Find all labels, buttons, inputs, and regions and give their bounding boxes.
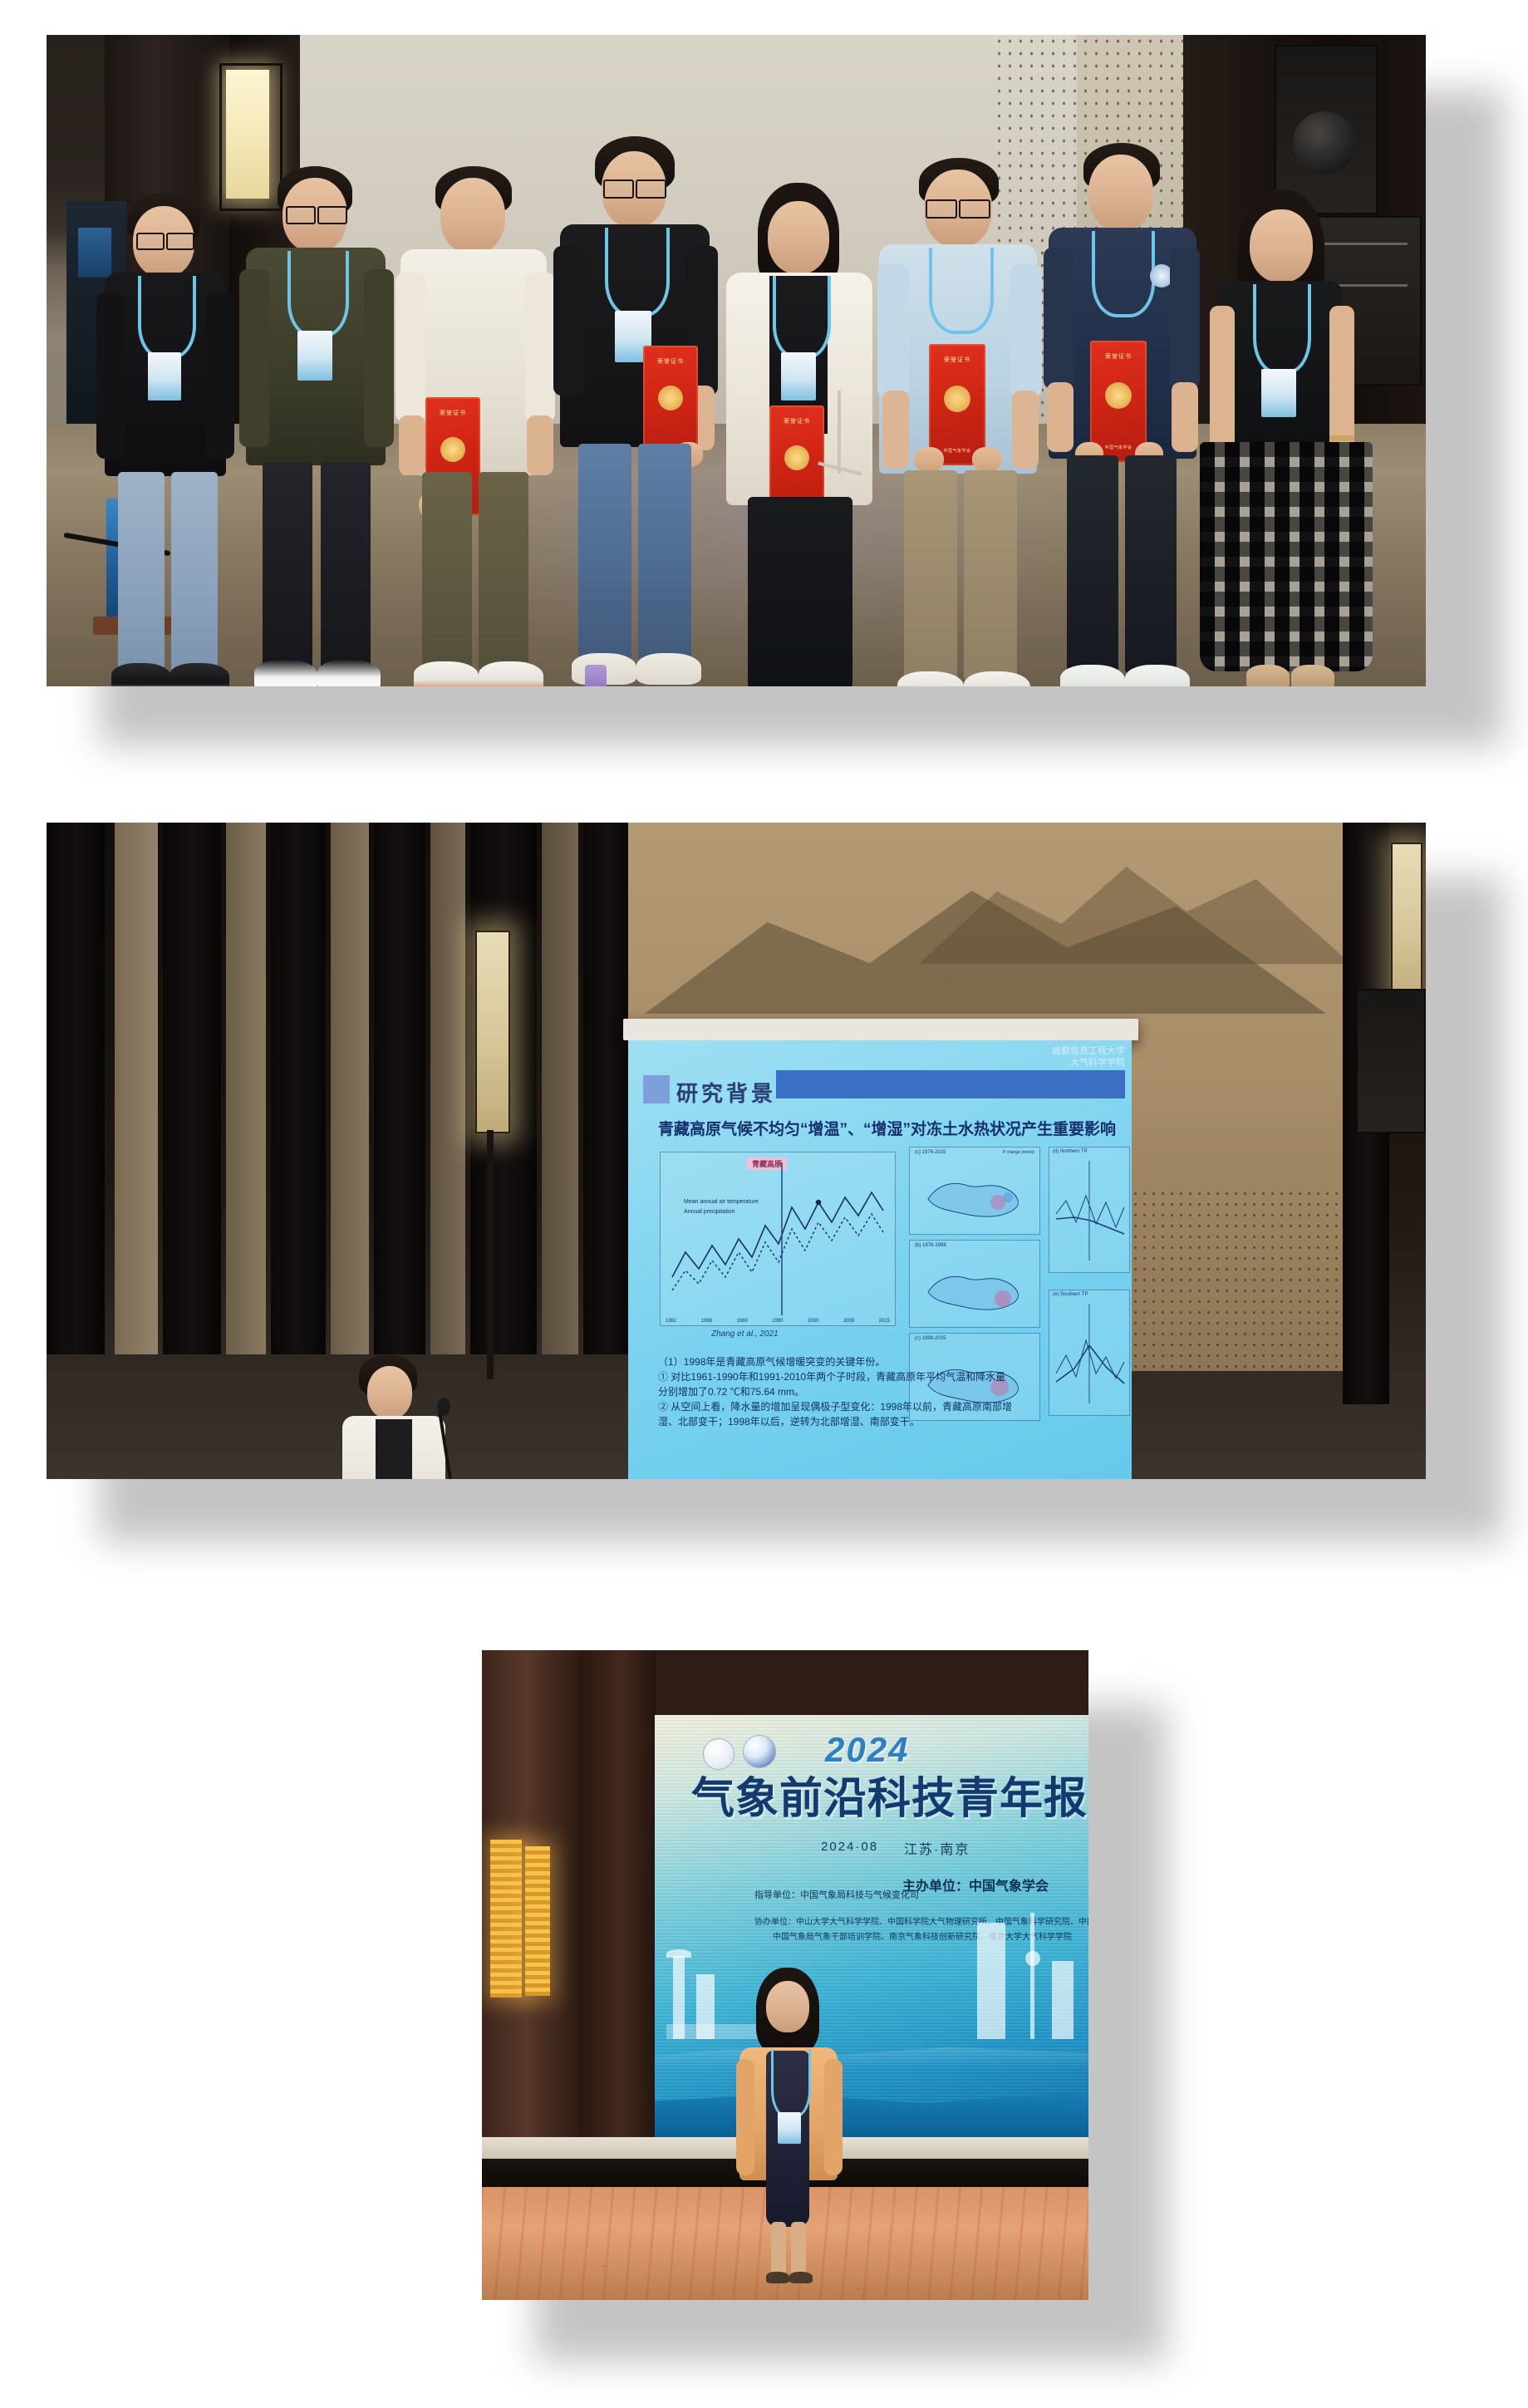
tp-outline-svg: [910, 1241, 1039, 1327]
presenter-leg-left: [771, 2222, 786, 2277]
person-3: 荣誉证书 中国气象学会: [396, 166, 562, 686]
person-5: 荣誉证书 中国气象学会: [721, 183, 887, 686]
person-6-glasses: [926, 199, 957, 219]
person-6-arm-left: [877, 264, 909, 397]
wall-slat: [226, 823, 266, 1354]
person-1-badge: [148, 352, 181, 401]
presenter-arm-right: [824, 2059, 843, 2175]
slide-header-bar: [776, 1070, 1125, 1098]
xtick: 1961: [666, 1319, 676, 1324]
dark-wall-column: [580, 1650, 656, 2149]
person-1: [96, 193, 246, 686]
slide-right-panel-e: (e) Southern TP: [1049, 1290, 1130, 1416]
person-6-glasses-right: [959, 199, 990, 219]
person-6-leg-left: [904, 470, 957, 680]
amber-wall-lamp-2: [525, 1846, 550, 1996]
slide-section-marker: [643, 1075, 670, 1103]
banner-title: 气象前沿科技青年报告汇: [691, 1763, 1088, 1826]
person-7-shoe-right: [1125, 665, 1190, 686]
presenter-inner: [376, 1419, 412, 1479]
right-panel-curve-d: [1049, 1147, 1129, 1272]
skyline-pagoda-roof: [666, 1949, 691, 1958]
xtick: 1980: [737, 1319, 748, 1324]
person-3-leg-right: [479, 472, 528, 670]
person-1-leg-right: [171, 472, 218, 671]
skyline-spire-ball: [1025, 1951, 1040, 1966]
person-6-hand-right: [972, 447, 1002, 472]
tall-wall-lamp-left: [475, 931, 510, 1133]
slide-timeseries-plot: 青藏高原 Mean annual air temperature Annual …: [660, 1152, 896, 1326]
presenter-leg-right: [791, 2222, 806, 2277]
plot-xtick-labels: 1961 1968 1980 1990 2000 2008 2015: [666, 1319, 890, 1324]
person-6-leg-right: [964, 470, 1017, 680]
banner-host: 主办单位：中国气象学会: [902, 1875, 1049, 1894]
banner-cohost-line2: 中国气象局气象干部培训学院、南京气象科技创新研究院、南京大学大气科学学院: [773, 1929, 1072, 1942]
right-panel-curve-e: [1049, 1290, 1129, 1415]
person-3-shoe-left: [414, 661, 479, 686]
slide-headline: 青藏高原气候不均匀“增温”、“增湿”对冻土水热状况产生重要影响: [658, 1117, 1116, 1139]
certificate-seal: [440, 437, 465, 462]
person-3-forearm-right: [527, 415, 553, 475]
person-1-leg-left: [118, 472, 165, 671]
presenter-badge: [778, 2112, 801, 2144]
person-7-lanyard: [1092, 231, 1155, 317]
presenter-head: [367, 1366, 412, 1419]
mic-stand-tripod: [838, 391, 841, 474]
wall-slat: [47, 823, 105, 1354]
person-4: 荣誉证书 中国气象学会: [553, 136, 728, 686]
person-3-forearm-left: [399, 415, 425, 475]
purple-water-bottle: [585, 665, 607, 686]
presenter-head: [766, 1981, 809, 2032]
speaker-cone: [1293, 111, 1356, 174]
certificate-seal: [784, 445, 809, 470]
skyline-spire-tall: [1030, 1913, 1034, 2039]
presenter-on-stage: [731, 1968, 848, 2300]
banner-location: 江苏·南京: [904, 1838, 970, 1858]
person-5-lanyard: [773, 276, 831, 359]
presenter-shoe-right: [789, 2272, 813, 2283]
person-2-leg-left: [263, 462, 312, 668]
person-3-arm-left: [396, 273, 425, 422]
award-certificate-4: 荣誉证书 中国气象学会: [929, 344, 985, 465]
person-1-glasses: [136, 233, 165, 250]
person-7: 荣誉证书 中国气象学会: [1044, 143, 1210, 686]
xtick: 1990: [772, 1319, 783, 1324]
banner-cohost-line1: 协办单位：中山大学大气科学学院、中国科学院大气物理研究所、中国气象科学研究院、中…: [754, 1914, 1088, 1927]
person-8-lanyard: [1253, 284, 1311, 374]
plot-legend-2: Annual precipitation: [684, 1209, 735, 1215]
person-2-leg-right: [321, 462, 371, 668]
person-8-shoe-right: [1291, 665, 1334, 686]
certificate-title: 荣誉证书: [929, 356, 985, 364]
wall-slat: [374, 823, 425, 1354]
skyline-wave: [655, 2036, 1088, 2069]
person-4-shoe-right: [636, 653, 701, 685]
amber-wall-lamp: [490, 1840, 522, 1998]
slide-left-citation: Zhang et al., 2021: [711, 1329, 779, 1339]
person-4-glasses: [603, 179, 634, 199]
person-6-shoe-right: [964, 671, 1030, 686]
person-7-forearm-right: [1172, 382, 1198, 452]
pa-speaker-right: [1356, 989, 1426, 1133]
person-7-arm-left: [1044, 248, 1074, 389]
person-7-forearm-left: [1047, 382, 1074, 452]
person-4-lanyard: [605, 228, 670, 317]
xtick: 2000: [808, 1319, 818, 1324]
tp-outline-svg: [910, 1147, 1039, 1234]
certificate-title: 荣誉证书: [643, 357, 698, 366]
person-1-glasses-right: [166, 233, 194, 250]
plot-legend-1: Mean annual air temperature: [684, 1199, 759, 1205]
slide-right-panel-d: (d) Northern TP: [1049, 1147, 1130, 1273]
person-3-arm-right: [525, 273, 555, 422]
presenter-shoe-left: [766, 2272, 789, 2283]
person-2: [239, 166, 405, 686]
person-2-shoe-right: [317, 660, 381, 686]
person-5-skirt: [748, 497, 852, 686]
person-1-shoe-left: [111, 663, 171, 686]
led-backdrop-wall: 2024 气象前沿科技青年报告汇 2024·08 江苏·南京 主办单位：中国气象…: [655, 1715, 1088, 2140]
person-7-shoe-left: [1060, 665, 1125, 686]
xtick: 2015: [879, 1319, 890, 1324]
skyline-skyscraper-2: [1052, 1961, 1074, 2039]
person-7-arm-right: [1170, 248, 1200, 389]
wall-slat: [430, 823, 465, 1354]
person-4-glasses-right: [636, 179, 666, 199]
timeseries-curves-svg: [661, 1152, 895, 1325]
person-4-arm-left: [553, 246, 585, 396]
person-1-lanyard: [138, 276, 196, 359]
person-8-badge: [1261, 369, 1296, 417]
slide-section-tag: 研究背景: [676, 1077, 776, 1108]
person-8-arm-right: [1329, 306, 1354, 449]
person-5-head: [768, 201, 829, 274]
photo-led-banner: 2024 气象前沿科技青年报告汇 2024·08 江苏·南京 主办单位：中国气象…: [482, 1650, 1088, 2300]
person-6: 荣誉证书 中国气象学会: [877, 158, 1052, 686]
xtick: 1968: [701, 1319, 712, 1324]
person-2-badge: [297, 331, 332, 381]
person-1-arm-right: [206, 292, 234, 459]
person-8: [1198, 189, 1381, 686]
certificate-seal: [1105, 382, 1132, 409]
person-1-arm-left: [96, 292, 125, 459]
person-2-shoe-left: [254, 660, 317, 686]
person-7-leg-right: [1125, 455, 1177, 673]
banner-guidance: 指导单位：中国气象局科技与气候变化司: [754, 1888, 919, 1901]
person-2-arm-right: [364, 269, 394, 447]
person-6-lanyard: [929, 248, 994, 334]
certificate-title: 荣誉证书: [769, 417, 824, 425]
skyline-skyscraper: [977, 1923, 1005, 2039]
person-8-wrist-bracelet: [1329, 435, 1354, 441]
wall-slat: [163, 823, 221, 1354]
slide-affiliation-line1: 成都信息工程大学: [1052, 1047, 1125, 1057]
person-8-plaid-skirt: [1200, 442, 1373, 671]
person-4-leg-right: [638, 444, 691, 661]
wall-slat: [583, 823, 633, 1354]
lamp-pole: [487, 1130, 494, 1379]
person-3-leg-left: [422, 472, 472, 670]
person-2-arm-left: [239, 269, 269, 447]
person-1-shoe-right: [170, 663, 229, 686]
xtick: 2008: [843, 1319, 854, 1324]
slide-map-panel-a: (c) 1976-2015 P change (mm/a): [909, 1147, 1040, 1235]
presenter-arm-left: [736, 2059, 754, 2175]
podium-microphone-head: [437, 1398, 450, 1416]
person-3-shoe-right: [479, 661, 543, 686]
presenter-lanyard: [771, 2049, 811, 2118]
certificate-title: 荣誉证书: [1090, 352, 1147, 361]
wall-slat: [271, 823, 326, 1354]
wall-slat: [331, 823, 369, 1354]
person-6-forearm-left: [882, 391, 909, 469]
person-2-glasses-right: [317, 206, 347, 224]
person-6-arm-right: [1010, 264, 1042, 397]
person-3-head: [440, 178, 505, 254]
slide-affiliation-line2: 大气科学学院: [1070, 1059, 1125, 1069]
person-7-leg-left: [1067, 455, 1118, 673]
person-6-forearm-right: [1012, 391, 1039, 469]
tall-wall-lamp-right: [1391, 843, 1422, 1004]
slide-map-panel-b: (b) 1976-1998: [909, 1240, 1040, 1328]
certificate-seal: [658, 386, 683, 410]
photo-award-ceremony: 荣誉证书 中国气象学会 荣誉证书 中国气象学会: [47, 35, 1426, 686]
slide-body-text: （1）1998年是青藏高原气候增暖突变的关键年份。 ① 对比1961-1990年…: [658, 1354, 1015, 1429]
certificate-title: 荣誉证书: [425, 409, 480, 417]
person-4-leg-left: [578, 444, 631, 661]
skyline-ground-wave: [655, 2079, 1088, 2140]
person-5-badge: [781, 352, 816, 401]
wall-slat: [115, 823, 158, 1354]
projection-screen: 研究背景 成都信息工程大学 大气科学学院 青藏高原气候不均匀“增温”、“增湿”对…: [628, 1040, 1132, 1479]
person-7-head: [1088, 155, 1153, 231]
certificate-seal: [944, 386, 970, 412]
person-2-glasses: [286, 206, 316, 224]
person-6-hand-left: [914, 447, 944, 472]
person-8-head: [1250, 209, 1313, 283]
person-2-lanyard: [287, 251, 349, 337]
person-8-arm-left: [1210, 306, 1235, 449]
projection-screen-housing-top: [623, 1019, 1138, 1040]
person-8-shoe-left: [1246, 665, 1290, 686]
wall-slat: [542, 823, 578, 1354]
photo-lecture-hall: 研究背景 成都信息工程大学 大气科学学院 青藏高原气候不均匀“增温”、“增湿”对…: [47, 823, 1426, 1479]
banner-date: 2024·08: [821, 1840, 878, 1854]
